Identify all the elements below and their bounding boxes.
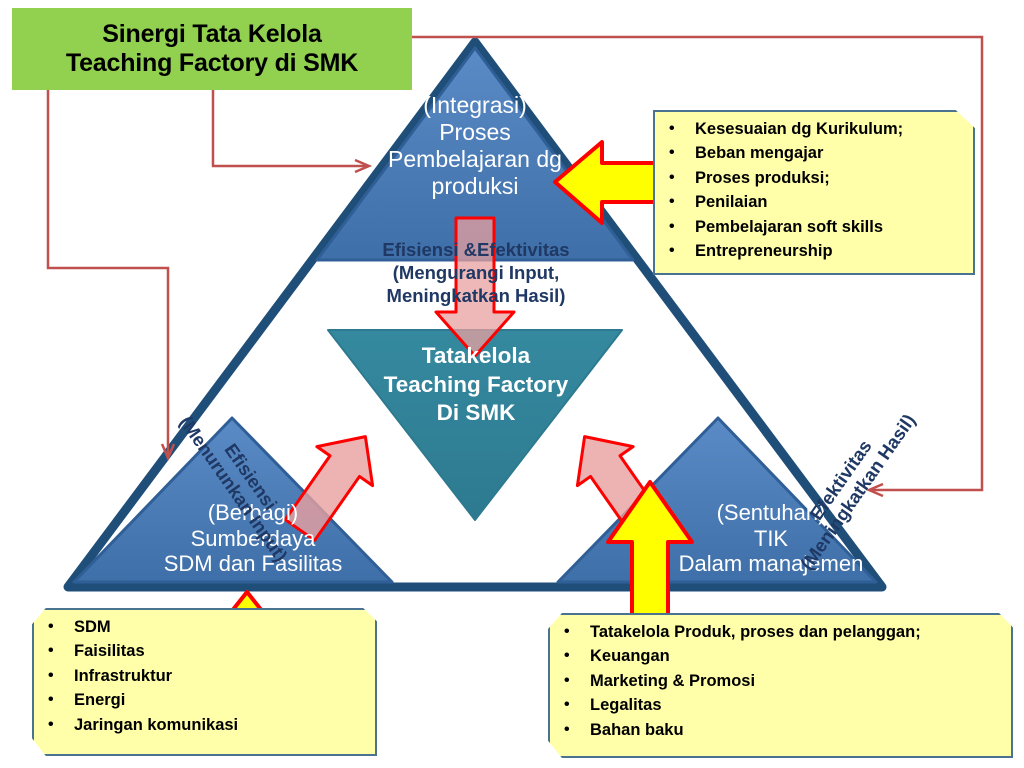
callout-list-item: •Kesesuaian dg Kurikulum; (669, 120, 963, 139)
bullet-icon: • (564, 672, 590, 691)
callout-item-text: Kesesuaian dg Kurikulum; (695, 120, 903, 139)
middle-line-3: Meningkatkan Hasil) (330, 285, 622, 308)
callout-list-item: •Bahan baku (564, 721, 1001, 740)
bullet-icon: • (669, 144, 695, 163)
callout-item-text: Keuangan (590, 647, 670, 666)
callout-list-item: •Infrastruktur (48, 667, 365, 686)
callout-item-text: Faisilitas (74, 642, 145, 661)
callout-item-text: Proses produksi; (695, 169, 830, 188)
bullet-icon: • (48, 618, 74, 637)
callout-item-text: Bahan baku (590, 721, 684, 740)
callout-item-text: Beban mengajar (695, 144, 823, 163)
callout-list-item: •Pembelajaran soft skills (669, 218, 963, 237)
callout-bottom-left-list: •SDM•Faisilitas•Infrastruktur•Energi•Jar… (34, 610, 375, 748)
core-line-1: Tatakelola (348, 342, 604, 371)
bullet-icon: • (669, 242, 695, 261)
bullet-icon: • (564, 696, 590, 715)
callout-top-right-list: •Kesesuaian dg Kurikulum;•Beban mengajar… (655, 112, 973, 275)
callout-bottom-right-list: •Tatakelola Produk, proses dan pelanggan… (550, 615, 1011, 753)
pyramid-core-label: Tatakelola Teaching Factory Di SMK (348, 342, 604, 428)
callout-list-item: •Tatakelola Produk, proses dan pelanggan… (564, 623, 1001, 642)
bullet-icon: • (48, 691, 74, 710)
callout-list-item: •SDM (48, 618, 365, 637)
title-line-1: Sinergi Tata Kelola (102, 20, 321, 50)
bullet-icon: • (48, 642, 74, 661)
pyramid-middle-label: Efisiensi &Efektivitas (Mengurangi Input… (330, 239, 622, 307)
bullet-icon: • (669, 193, 695, 212)
callout-list-item: •Legalitas (564, 696, 1001, 715)
callout-item-text: Legalitas (590, 696, 662, 715)
apex-line-3: Pembelajaran dg (348, 146, 602, 173)
callout-item-text: Entrepreneurship (695, 242, 833, 261)
bullet-icon: • (564, 647, 590, 666)
callout-box-bottom-right: •Tatakelola Produk, proses dan pelanggan… (548, 613, 1013, 758)
callout-item-text: SDM (74, 618, 111, 637)
callout-item-text: Pembelajaran soft skills (695, 218, 883, 237)
core-line-3: Di SMK (348, 399, 604, 428)
callout-list-item: •Marketing & Promosi (564, 672, 1001, 691)
callout-list-item: •Energi (48, 691, 365, 710)
connector-title-to-left (48, 90, 168, 455)
bullet-icon: • (48, 716, 74, 735)
diagram-canvas: Sinergi Tata Kelola Teaching Factory di … (0, 0, 1024, 768)
left-corner-line-3: SDM dan Fasilitas (128, 551, 378, 577)
bullet-icon: • (669, 169, 695, 188)
bullet-icon: • (669, 120, 695, 139)
title-banner: Sinergi Tata Kelola Teaching Factory di … (12, 8, 412, 90)
callout-box-top-right: •Kesesuaian dg Kurikulum;•Beban mengajar… (653, 110, 975, 275)
callout-list-item: •Faisilitas (48, 642, 365, 661)
callout-box-bottom-left: •SDM•Faisilitas•Infrastruktur•Energi•Jar… (32, 608, 377, 756)
callout-list-item: •Keuangan (564, 647, 1001, 666)
callout-item-text: Marketing & Promosi (590, 672, 755, 691)
title-line-2: Teaching Factory di SMK (66, 49, 358, 79)
connector-title-to-apex (213, 90, 366, 166)
callout-list-item: •Entrepreneurship (669, 242, 963, 261)
bullet-icon: • (669, 218, 695, 237)
middle-line-2: (Mengurangi Input, (330, 262, 622, 285)
callout-list-item: •Jaringan komunikasi (48, 716, 365, 735)
middle-line-1: Efisiensi &Efektivitas (330, 239, 622, 262)
bullet-icon: • (48, 667, 74, 686)
callout-item-text: Energi (74, 691, 125, 710)
apex-line-4: produksi (348, 173, 602, 200)
apex-line-1: (Integrasi) (348, 92, 602, 119)
callout-item-text: Infrastruktur (74, 667, 172, 686)
callout-list-item: •Beban mengajar (669, 144, 963, 163)
callout-item-text: Jaringan komunikasi (74, 716, 238, 735)
right-corner-line-2: TIK (648, 526, 894, 552)
bullet-icon: • (564, 623, 590, 642)
callout-item-text: Tatakelola Produk, proses dan pelanggan; (590, 623, 921, 642)
pyramid-apex-label: (Integrasi) Proses Pembelajaran dg produ… (348, 92, 602, 200)
callout-item-text: Penilaian (695, 193, 767, 212)
callout-list-item: •Penilaian (669, 193, 963, 212)
apex-line-2: Proses (348, 119, 602, 146)
bullet-icon: • (564, 721, 590, 740)
core-line-2: Teaching Factory (348, 371, 604, 400)
callout-list-item: •Proses produksi; (669, 169, 963, 188)
right-corner-line-3: Dalam manajemen (648, 551, 894, 577)
